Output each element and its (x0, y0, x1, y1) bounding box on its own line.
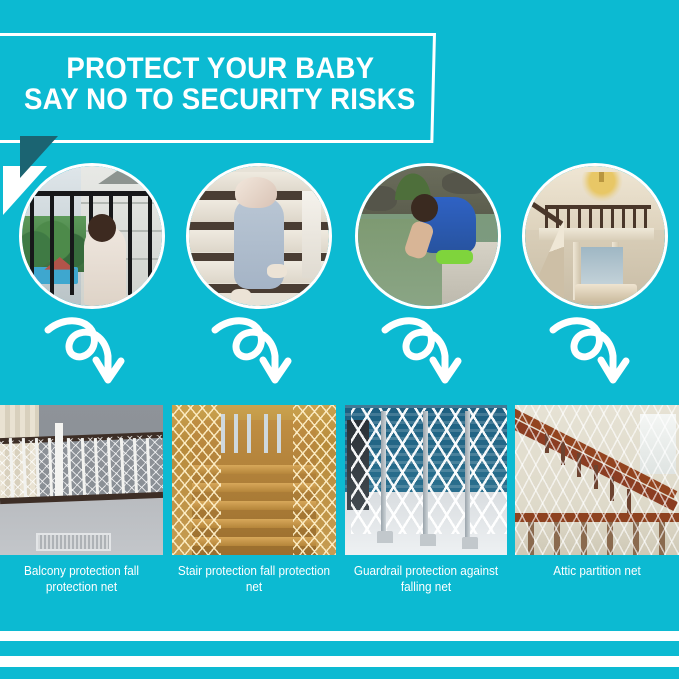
curly-down-arrow-icon-2 (211, 316, 307, 390)
bottom-stripe-2 (0, 656, 679, 667)
product-caption-stair: Stair protection fall protection net (177, 563, 331, 595)
product-photo-row (0, 405, 679, 555)
risk-circle-open-loft-interior (522, 163, 668, 309)
banner-headline-2: SAY NO TO SECURITY RISKS (24, 85, 415, 116)
bottom-stripe-1 (0, 631, 679, 641)
product-photo-guardrail-net (345, 405, 507, 555)
risk-circle-toddler-climbing-stairs (186, 163, 332, 309)
curly-down-arrow-icon-4 (549, 316, 645, 390)
curly-down-arrow-icon-3 (381, 316, 477, 390)
product-photo-stair-net (172, 405, 336, 555)
curly-down-arrow-icon-1 (44, 316, 140, 390)
product-caption-row: Balcony protection fall protection net S… (0, 563, 679, 609)
product-caption-guardrail: Guardrail protection against falling net (350, 563, 502, 595)
product-photo-balcony-net (0, 405, 163, 555)
product-photo-attic-net (515, 405, 679, 555)
product-caption-attic: Attic partition net (520, 563, 674, 579)
risk-circle-child-at-balcony-railing (19, 163, 165, 309)
banner-headline-1: PROTECT YOUR BABY (66, 54, 374, 85)
banner-text-block: PROTECT YOUR BABY SAY NO TO SECURITY RIS… (0, 33, 436, 137)
risk-circle-boy-at-pond-edge (355, 163, 501, 309)
product-caption-balcony: Balcony protection fall protection net (5, 563, 158, 595)
arrow-row (0, 316, 679, 390)
risk-circle-row (0, 163, 679, 311)
header-banner: PROTECT YOUR BABY SAY NO TO SECURITY RIS… (0, 33, 436, 143)
